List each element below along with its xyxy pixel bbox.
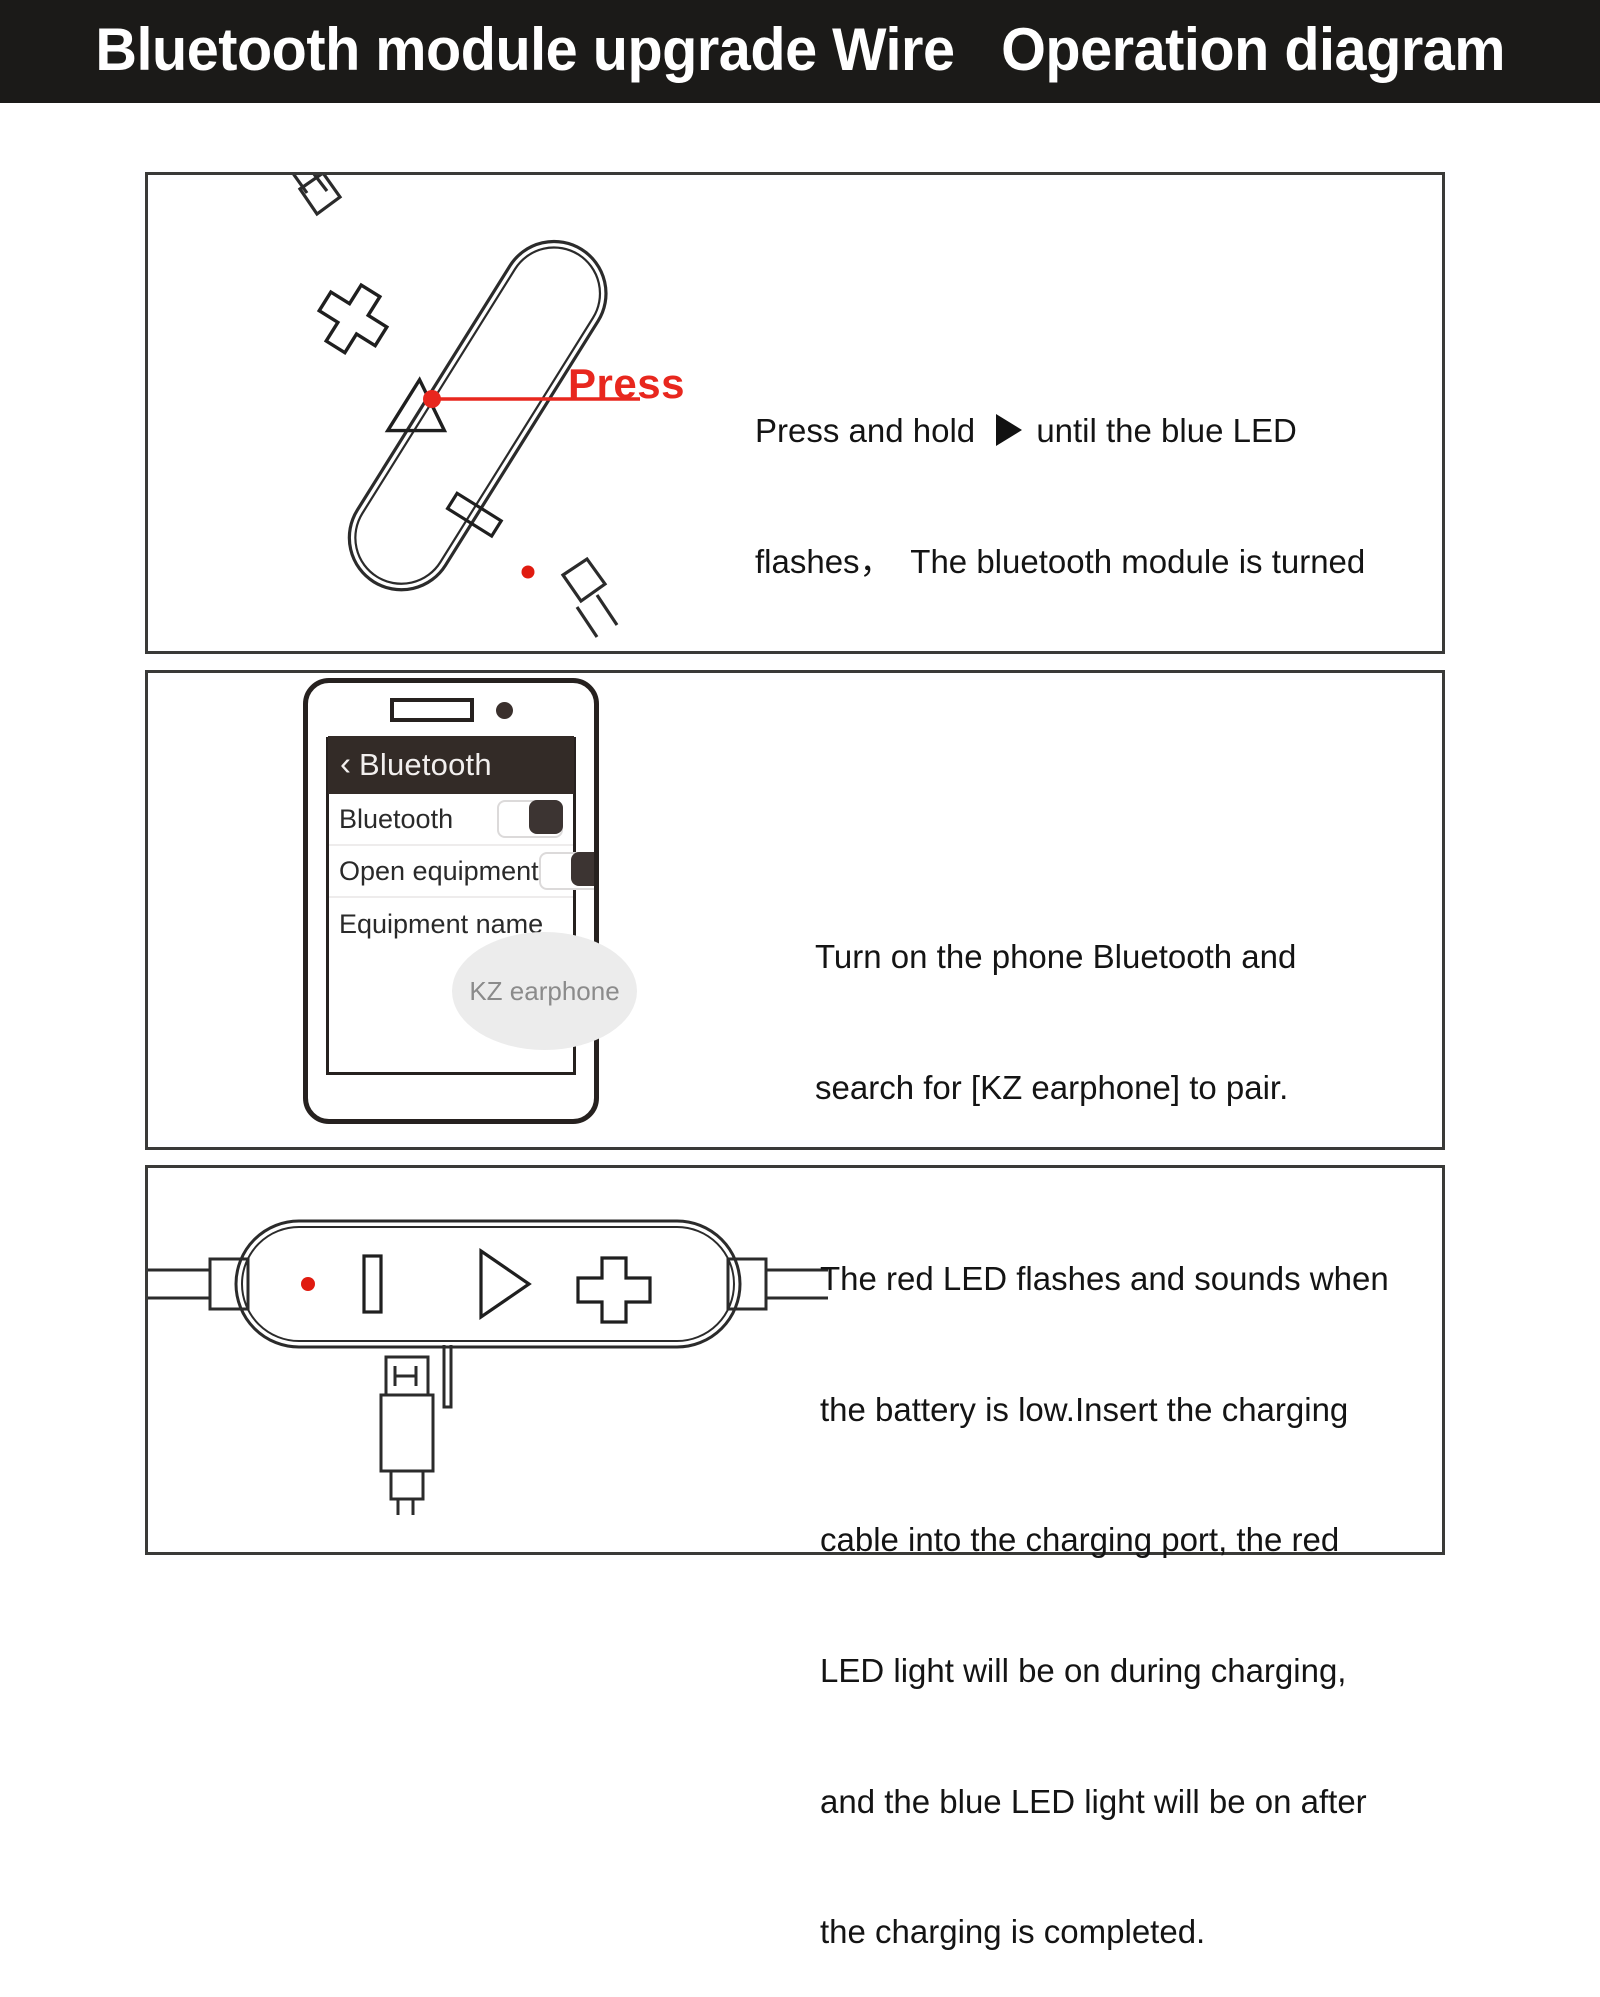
- play-triangle-icon: [996, 414, 1022, 446]
- cable-lower-strand-b: [577, 607, 597, 637]
- callout-anchor-dot: [423, 390, 441, 408]
- cable-lower-strand-a: [597, 595, 617, 625]
- instruction-line: cable into the charging port, the red: [820, 1518, 1400, 1562]
- instruction-line: and the blue LED light will be on after: [820, 1780, 1400, 1824]
- play-power-triangle-icon: [481, 1251, 529, 1317]
- volume-up-plus-icon: [308, 273, 399, 364]
- led-indicator-red: [301, 1277, 315, 1291]
- settings-row-bluetooth[interactable]: Bluetooth: [329, 794, 573, 846]
- instruction-line: search for [KZ earphone] to pair.: [815, 1066, 1375, 1110]
- toggle-knob: [529, 800, 563, 834]
- charging-port-flap: [444, 1345, 451, 1407]
- module-body-inner: [338, 230, 617, 601]
- settings-row-label: Open equipment: [339, 856, 539, 887]
- instruction-line: LED light will be on during charging,: [820, 1649, 1400, 1693]
- instruction-fragment: Press and hold: [755, 412, 984, 449]
- usb-plug-body: [381, 1395, 433, 1471]
- volume-up-plus-icon: [578, 1258, 650, 1322]
- bluetooth-module-illustration-tilted: [245, 175, 715, 645]
- usb-charging-plug-icon: [381, 1357, 433, 1515]
- cable-upper-strand-a: [287, 175, 307, 193]
- module-body-inner: [242, 1227, 734, 1341]
- settings-row-open-equipment[interactable]: Open equipment: [329, 846, 573, 898]
- discovered-device-name: KZ earphone: [469, 976, 619, 1007]
- instruction-line: The red LED flashes and sounds when: [820, 1257, 1400, 1301]
- instruction-fragment: until the blue LED: [1036, 412, 1297, 449]
- phone-top-bezel: [308, 683, 594, 729]
- instruction-line: flashes， The bluetooth module is turned: [755, 540, 1435, 584]
- settings-row-label: Bluetooth: [339, 804, 453, 835]
- screen-title: Bluetooth: [359, 747, 492, 783]
- discovered-device-bubble[interactable]: KZ earphone: [452, 932, 637, 1050]
- volume-down-minus-icon: [448, 493, 502, 536]
- instruction-line: the battery is low.Insert the charging: [820, 1388, 1400, 1432]
- front-camera-icon: [496, 702, 513, 719]
- bluetooth-settings-header: ‹ Bluetooth: [328, 736, 574, 794]
- bluetooth-toggle[interactable]: [497, 800, 563, 838]
- instruction-text-step-2: Turn on the phone Bluetooth and search f…: [815, 848, 1375, 1153]
- bluetooth-module-illustration-horizontal: [148, 1185, 828, 1515]
- volume-down-minus-icon: [364, 1256, 381, 1312]
- module-body-outer: [330, 222, 626, 610]
- page-title: Bluetooth module upgrade Wire Operation …: [95, 20, 1505, 84]
- earpiece-speaker-icon: [390, 698, 474, 722]
- press-callout-label: Press: [568, 360, 685, 408]
- led-indicator-red: [522, 566, 535, 579]
- back-chevron-icon[interactable]: ‹: [340, 747, 351, 784]
- instruction-line: Press and hold until the blue LED: [755, 409, 1435, 453]
- open-equipment-toggle[interactable]: [539, 852, 599, 890]
- instruction-line: Turn on the phone Bluetooth and: [815, 935, 1375, 979]
- instruction-line: the charging is completed.: [820, 1910, 1400, 1954]
- instruction-text-step-3: The red LED flashes and sounds when the …: [820, 1170, 1400, 1997]
- title-bar: Bluetooth module upgrade Wire Operation …: [0, 0, 1600, 103]
- usb-plug-strain-relief: [391, 1471, 423, 1499]
- smartphone-illustration: ‹ Bluetooth Bluetooth Open equipment Equ…: [303, 678, 599, 1124]
- toggle-knob: [571, 852, 599, 886]
